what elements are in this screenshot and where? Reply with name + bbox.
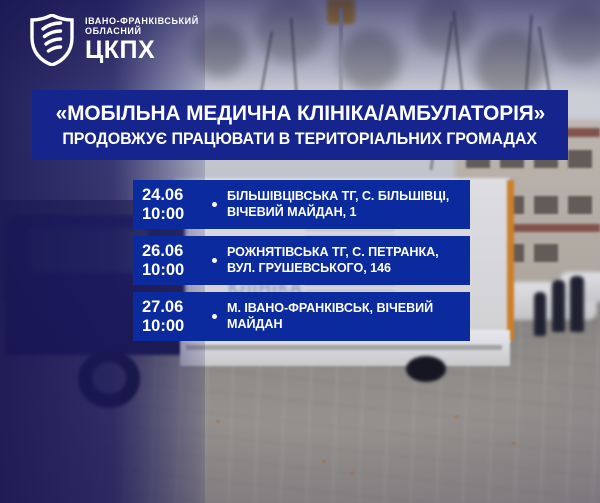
schedule-location: РОЖНЯТІВСЬКА ТГ, С. ПЕТРАНКА, ВУЛ. ГРУШЕ… xyxy=(227,245,439,276)
location-line-1: БІЛЬШІВЦІВСЬКА ТГ, С. БІЛЬШІВЦІ, xyxy=(227,189,449,205)
schedule-time: 10:00 xyxy=(142,261,208,280)
schedule-row: 26.06 10:00 РОЖНЯТІВСЬКА ТГ, С. ПЕТРАНКА… xyxy=(133,236,470,285)
schedule-location: М. ІВАНО-ФРАНКІВСЬК, ВІЧЕВИЙ МАЙДАН xyxy=(227,301,433,332)
shield-logo-icon xyxy=(30,14,74,66)
schedule-row: 27.06 10:00 М. ІВАНО-ФРАНКІВСЬК, ВІЧЕВИЙ… xyxy=(133,292,470,341)
schedule-datetime: 27.06 10:00 xyxy=(142,298,208,336)
bullet-dot-icon xyxy=(212,314,217,319)
banner-subtitle: ПРОДОВЖУЄ ПРАЦЮВАТИ В ТЕРИТОРІАЛЬНИХ ГРО… xyxy=(63,130,538,149)
location-line-2: МАЙДАН xyxy=(227,317,433,333)
logo-acronym: ЦКПХ xyxy=(85,38,199,63)
location-line-2: ВУЛ. ГРУШЕВСЬКОГО, 146 xyxy=(227,261,439,277)
poster: МОБІЛЬНА МЕДИЧНА КЛІНІКА ІВАНО-ФРАНКІВСЬ… xyxy=(0,0,600,503)
location-line-2: ВІЧЕВИЙ МАЙДАН, 1 xyxy=(227,205,449,221)
schedule-time: 10:00 xyxy=(142,205,208,224)
schedule-location: БІЛЬШІВЦІВСЬКА ТГ, С. БІЛЬШІВЦІ, ВІЧЕВИЙ… xyxy=(227,189,449,220)
banner-title: «МОБІЛЬНА МЕДИЧНА КЛІНІКА/АМБУЛАТОРІЯ» xyxy=(55,101,545,126)
schedule-list: 24.06 10:00 БІЛЬШІВЦІВСЬКА ТГ, С. БІЛЬШІ… xyxy=(133,180,470,348)
logo-line-2: ОБЛАСНИЙ xyxy=(85,27,199,37)
bullet-dot-icon xyxy=(212,202,217,207)
schedule-time: 10:00 xyxy=(142,317,208,336)
schedule-datetime: 26.06 10:00 xyxy=(142,242,208,280)
organization-logo: ІВАНО-ФРАНКІВСЬКИЙ ОБЛАСНИЙ ЦКПХ xyxy=(30,14,199,66)
location-line-1: М. ІВАНО-ФРАНКІВСЬК, ВІЧЕВИЙ xyxy=(227,301,433,317)
schedule-row: 24.06 10:00 БІЛЬШІВЦІВСЬКА ТГ, С. БІЛЬШІ… xyxy=(133,180,470,229)
location-line-1: РОЖНЯТІВСЬКА ТГ, С. ПЕТРАНКА, xyxy=(227,245,439,261)
schedule-date: 24.06 xyxy=(142,186,208,205)
logo-wordmark: ІВАНО-ФРАНКІВСЬКИЙ ОБЛАСНИЙ ЦКПХ xyxy=(85,17,199,63)
schedule-date: 27.06 xyxy=(142,298,208,317)
schedule-date: 26.06 xyxy=(142,242,208,261)
bullet-dot-icon xyxy=(212,258,217,263)
headline-banner: «МОБІЛЬНА МЕДИЧНА КЛІНІКА/АМБУЛАТОРІЯ» П… xyxy=(32,90,568,160)
schedule-datetime: 24.06 10:00 xyxy=(142,186,208,224)
